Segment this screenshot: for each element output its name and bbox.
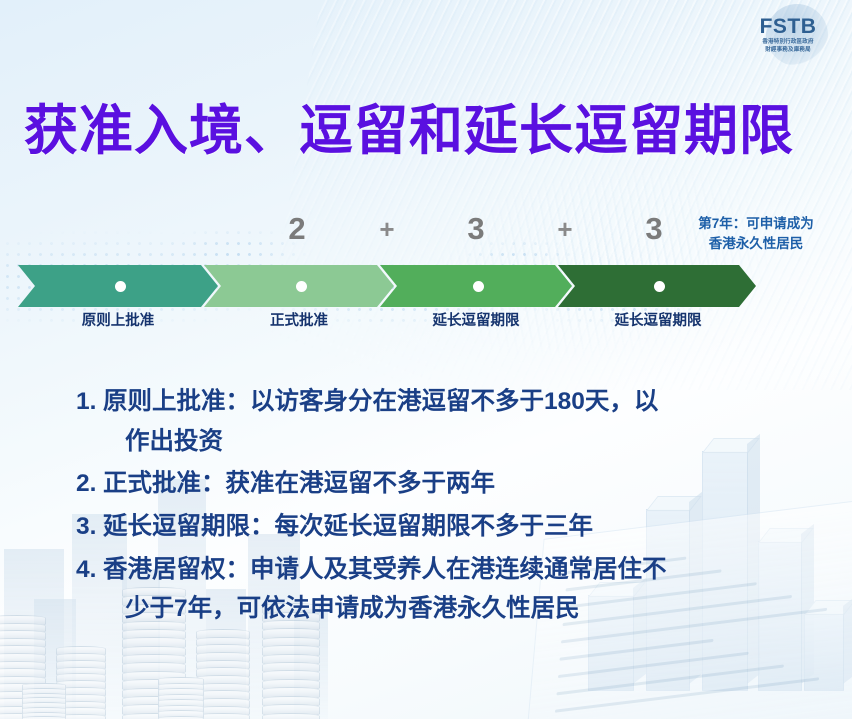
timeline-number-3: 3: [634, 206, 674, 252]
document-text-line: [555, 677, 819, 712]
timeline-chevrons: [0, 265, 852, 307]
timeline-chevron-3[interactable]: [380, 265, 572, 307]
list-item: 1.原则上批准：以访客身分在港逗留不多于180天，以作出投资: [76, 382, 816, 461]
list-item-text: 正式批准：获准在港逗留不多于两年: [103, 464, 816, 504]
list-item: 3.延长逗留期限：每次延长逗留期限不多于三年: [76, 507, 816, 547]
chevron-dot-icon: [654, 281, 665, 292]
presentation-slide: FSTB 香港特別行政區政府 財經事務及庫務局 获准入境、逗留和延长逗留期限 2…: [0, 0, 852, 719]
coin-stack: [56, 646, 106, 719]
timeline-label-1: 原则上批准: [38, 310, 198, 332]
year-seven-annotation: 第7年：可申请成为 香港永久性居民: [672, 214, 840, 253]
skyline-building: [34, 599, 76, 719]
timeline-number-2: 3: [456, 206, 496, 252]
document-text-line: [558, 652, 749, 678]
coin-stack: [22, 683, 66, 719]
timeline-labels: 原则上批准 正式批准 延长逗留期限 延长逗留期限: [0, 310, 852, 336]
year-seven-annotation-line-1: 第7年：可申请成为: [672, 214, 840, 234]
coin-stack: [0, 615, 46, 719]
slide-title: 获准入境、逗留和延长逗留期限: [24, 86, 794, 165]
chevron-dot-icon: [115, 281, 126, 292]
timeline-label-3: 延长逗留期限: [398, 310, 554, 332]
chevron-dot-icon: [296, 281, 307, 292]
document-text-line: [556, 664, 784, 695]
list-item-number: 4.: [76, 550, 103, 590]
list-item-number: 2.: [76, 464, 103, 504]
timeline-label-2: 正式批准: [222, 310, 376, 332]
list-item-number: 3.: [76, 507, 103, 547]
list-item: 2.正式批准：获准在港逗留不多于两年: [76, 464, 816, 504]
logo-chinese-text: 香港特別行政區政府 財經事務及庫務局: [762, 39, 813, 54]
skyline-building: [4, 549, 64, 719]
chevron-dot-icon: [473, 281, 484, 292]
logo-chinese-line-2: 財經事務及庫務局: [762, 47, 813, 54]
document-text-line: [559, 639, 713, 661]
timeline-chevron-1[interactable]: [18, 265, 218, 307]
list-item-continuation: 少于7年，可依法申请成为香港永久性居民: [103, 589, 816, 629]
timeline-chevron-2[interactable]: [204, 265, 394, 307]
timeline-plus-1: +: [367, 206, 407, 252]
timeline-label-4: 延长逗留期限: [578, 310, 738, 332]
timeline-chevron-4[interactable]: [558, 265, 756, 307]
list-item-number: 1.: [76, 382, 103, 422]
list-item-text: 原则上批准：以访客身分在港逗留不多于180天，以作出投资: [103, 382, 816, 461]
year-seven-annotation-line-2: 香港永久性居民: [672, 234, 840, 254]
conditions-list: 1.原则上批准：以访客身分在港逗留不多于180天，以作出投资2.正式批准：获准在…: [76, 382, 816, 632]
list-item-text: 延长逗留期限：每次延长逗留期限不多于三年: [103, 507, 816, 547]
logo-chinese-line-1: 香港特別行政區政府: [762, 39, 813, 46]
list-item: 4.香港居留权：申请人及其受养人在港连续通常居住不少于7年，可依法申请成为香港永…: [76, 550, 816, 629]
coin-stack: [196, 629, 250, 719]
logo-mark-text: FSTB: [760, 16, 817, 37]
timeline-number-1: 2: [277, 206, 317, 252]
timeline-diagram: 2 + 3 + 3 第7年：可申请成为 香港永久性居民 原则上批准 正式批准 延…: [0, 206, 852, 336]
list-item-text: 香港居留权：申请人及其受养人在港连续通常居住不少于7年，可依法申请成为香港永久性…: [103, 550, 816, 629]
list-item-continuation: 作出投资: [103, 422, 816, 462]
timeline-plus-2: +: [545, 206, 585, 252]
coin-stack: [158, 677, 204, 719]
fstb-logo: FSTB 香港特別行政區政府 財經事務及庫務局: [740, 6, 836, 64]
